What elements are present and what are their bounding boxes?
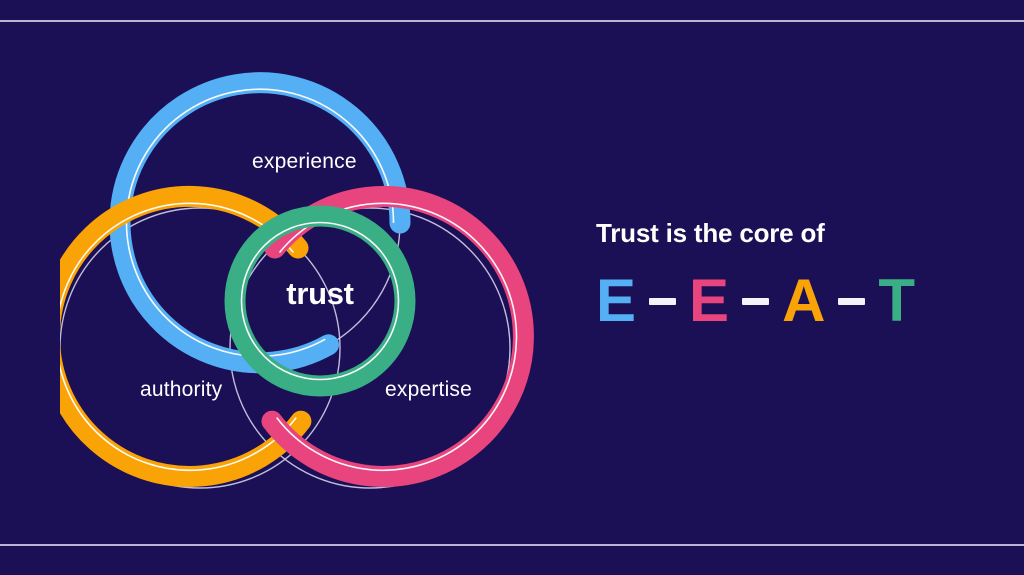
eeat-letter-authoritativeness: A <box>782 271 825 331</box>
eeat-acronym: E E A T <box>596 271 996 331</box>
ring-label-expertise: expertise <box>385 378 472 402</box>
eeat-letter-trust: T <box>878 271 915 331</box>
eeat-letter-expertise: E <box>689 271 729 331</box>
ring-label-authority: authority <box>140 378 222 402</box>
bottom-divider <box>0 544 1024 546</box>
eeat-venn-diagram: experience authority expertise trust <box>60 38 600 538</box>
infographic-canvas: experience authority expertise trust Tru… <box>0 0 1024 575</box>
eeat-dash-3 <box>838 298 865 305</box>
eeat-letter-experience: E <box>596 271 636 331</box>
ring-label-trust: trust <box>230 276 410 312</box>
ring-label-experience: experience <box>252 150 357 174</box>
right-text-panel: Trust is the core of E E A T <box>596 218 996 331</box>
eeat-dash-2 <box>742 298 769 305</box>
eeat-dash-1 <box>649 298 676 305</box>
top-divider <box>0 20 1024 22</box>
headline-text: Trust is the core of <box>596 218 996 249</box>
